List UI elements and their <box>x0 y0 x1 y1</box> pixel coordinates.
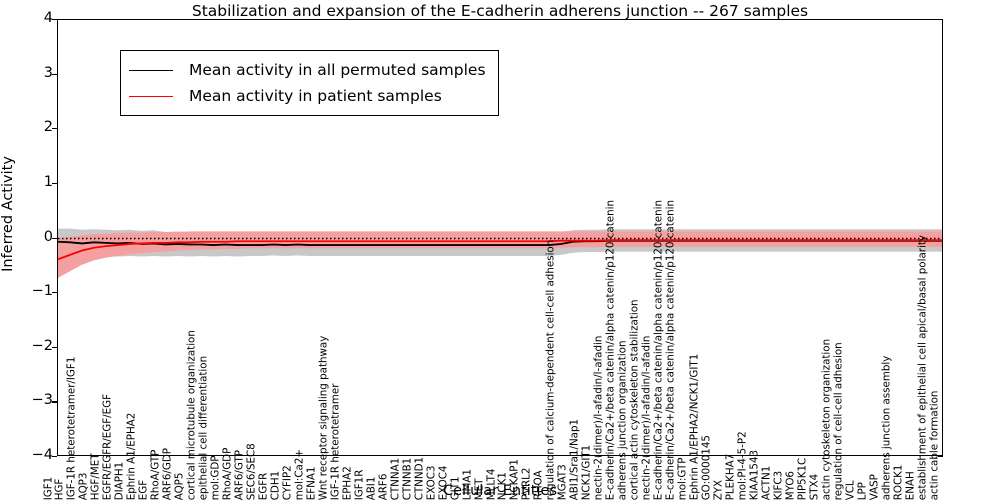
legend-line-permuted-icon <box>129 70 173 71</box>
x-tick-label: regulation of calcium-dependent cell-cel… <box>546 239 556 500</box>
x-tick-label: adherens junction organization <box>618 340 628 500</box>
y-tick-label: −2 <box>13 338 53 354</box>
legend-line-patient-icon <box>129 96 173 97</box>
chart-figure: Stabilization and expansion of the E-cad… <box>0 0 1000 500</box>
x-tick-label: Wnt receptor signaling pathway <box>319 335 329 500</box>
x-tick-label: E-cadherin/Ca2+/beta catenin/alpha caten… <box>654 200 664 500</box>
x-tick-label: E-cadherin/Ca2+/beta catenin/alpha caten… <box>666 200 676 500</box>
y-tick-label: −4 <box>13 447 53 463</box>
x-tick-label: nectin-2(dimer)/l-afadin/l-afadin <box>594 335 604 500</box>
x-tick-label: establishment of epithelial cell apical/… <box>917 235 927 500</box>
y-tick-label: 4 <box>13 10 53 26</box>
legend-item-permuted: Mean activity in all permuted samples <box>129 57 486 83</box>
y-tick-label: 1 <box>13 174 53 190</box>
y-tick-label: −3 <box>13 392 53 408</box>
x-tick-label: Ephrin A1/EPHA2/NCK1/GIT1 <box>690 353 700 500</box>
legend-item-patient: Mean activity in patient samples <box>129 83 486 109</box>
y-tick-label: 2 <box>13 119 53 135</box>
legend-label-patient: Mean activity in patient samples <box>189 87 442 105</box>
legend-label-permuted: Mean activity in all permuted samples <box>189 61 486 79</box>
x-tick-label: IGF1 <box>43 477 53 500</box>
y-tick-label: 3 <box>13 65 53 81</box>
x-tick-label: adherens junction assembly <box>881 355 891 500</box>
y-tick-label: 0 <box>13 229 53 245</box>
x-tick-label: actin cytoskeleton organization <box>821 339 831 500</box>
x-tick-label: epithelial cell differentiation <box>199 356 209 500</box>
x-tick-label: cortical actin cytoskeleton stabilizatio… <box>630 299 640 500</box>
x-tick-label: cortical microtubule organization <box>187 330 197 500</box>
x-axis-label: Cellular Entities <box>57 483 943 499</box>
chart-legend: Mean activity in all permuted samples Me… <box>120 50 499 116</box>
y-tick-label: −1 <box>13 283 53 299</box>
x-tick-label: E-cadherin/Ca2+/beta catenin/alpha caten… <box>606 200 616 500</box>
x-tick-label: nectin-2(dimer)/l-afadin/l-afadin <box>642 335 652 500</box>
x-tick-label: IGF-1R heterotetramer/IGF1 <box>67 356 77 500</box>
x-tick-label: regulation of cell-cell adhesion <box>833 342 843 500</box>
